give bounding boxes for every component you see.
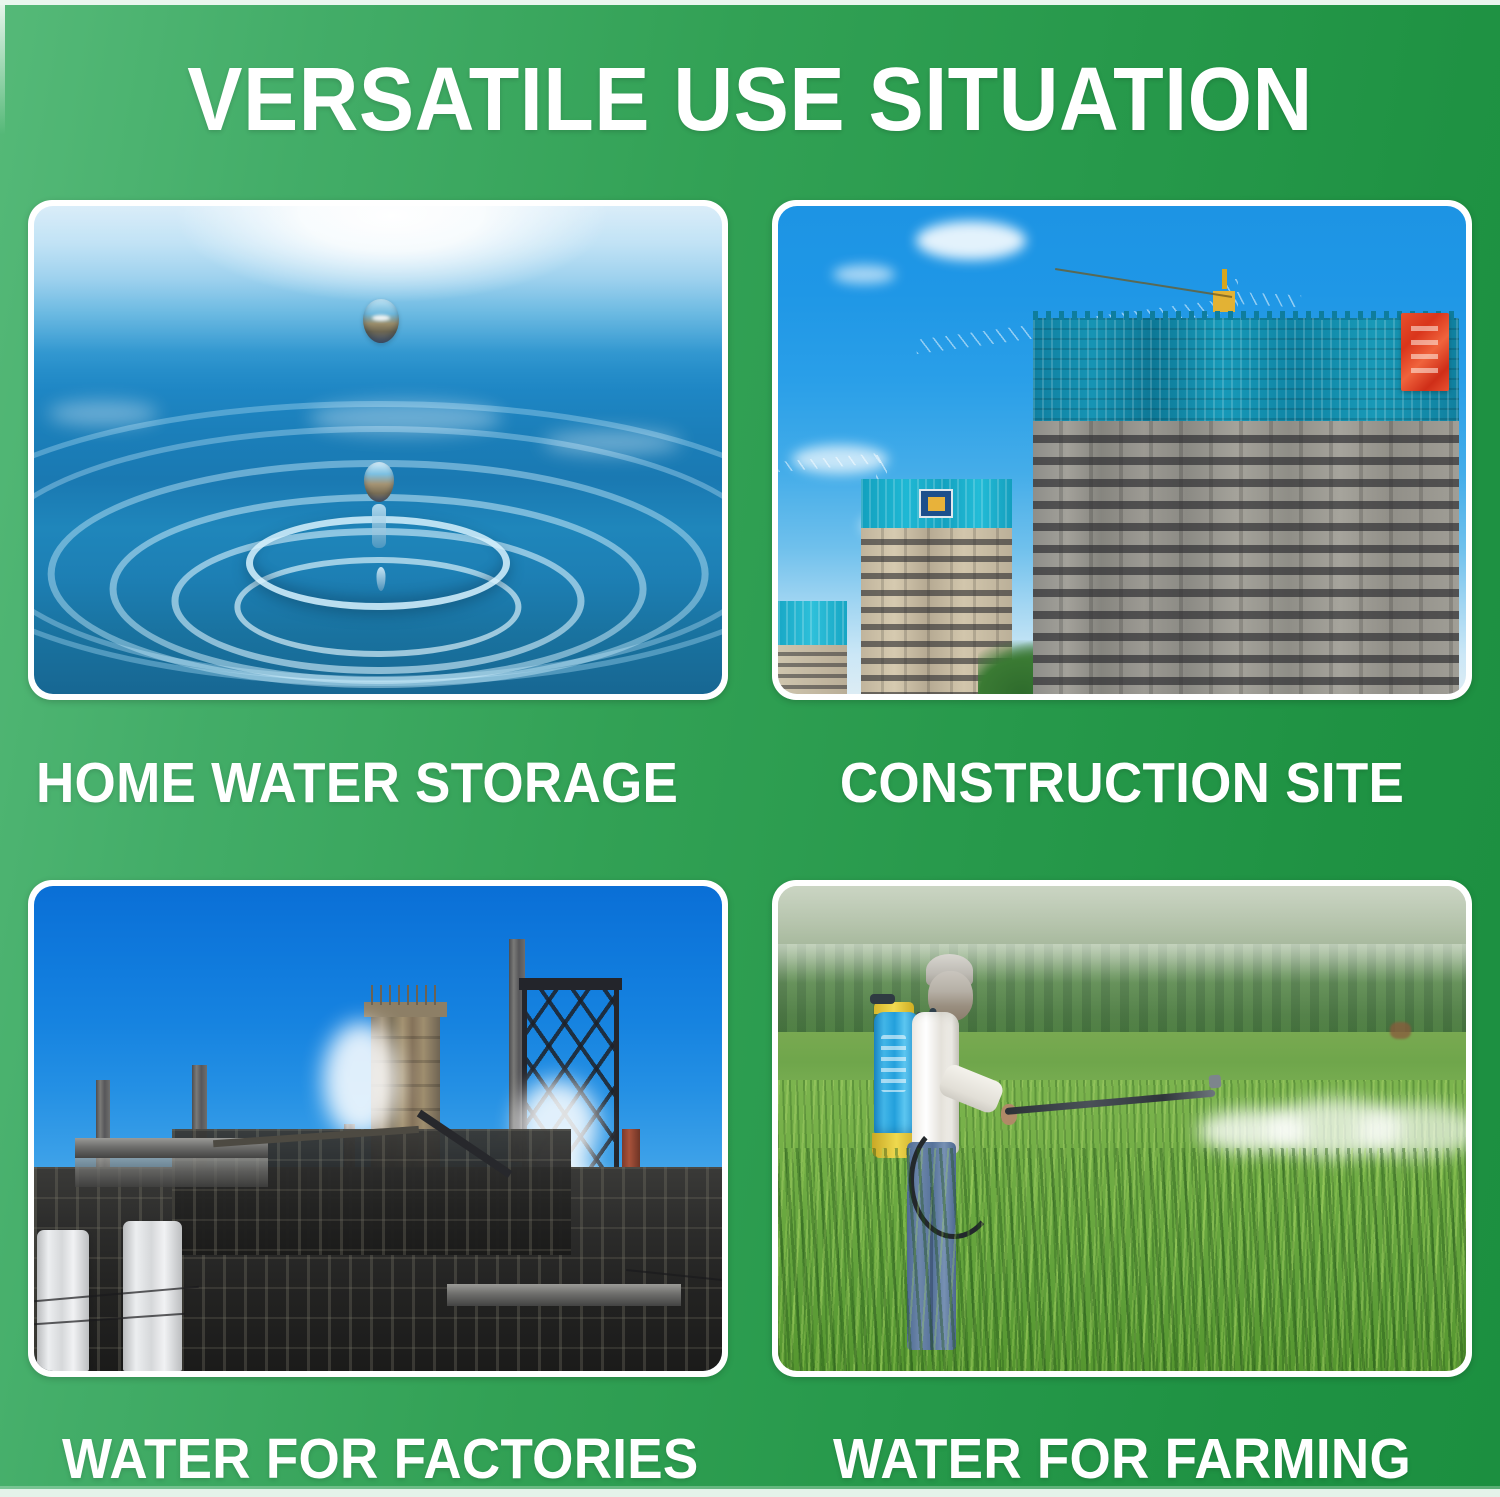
deck-railing [75,1158,268,1187]
far-building-left [778,645,847,694]
cloud-top [916,221,1026,260]
safety-netting-far-left [778,601,847,645]
water-sheen-right [543,430,681,454]
crane-apex-main [1222,269,1227,289]
spray-nozzle [1208,1074,1221,1087]
photo-inner-factory [34,886,722,1371]
lattice-tower-cap [519,978,622,990]
safety-netting-main-tower [1033,318,1460,420]
photo-inner-construction [778,206,1466,694]
water-column [372,504,386,548]
page-title: VERSATILE USE SITUATION [60,52,1440,148]
cloud-left [833,265,895,285]
caption-water-for-factories: WATER FOR FACTORIES [62,1428,699,1490]
versatile-use-situation-poster: VERSATILE USE SITUATION HOME WATER STORA… [0,0,1500,1497]
main-highrise-under-construction [1033,421,1460,694]
poster-top-edge [0,0,1500,5]
foreground-grass-blades [778,1148,1466,1371]
storage-tank-right [123,1221,181,1371]
photo-home-water-storage [28,200,728,700]
far-building-window-grid [778,645,847,694]
distant-figure [1390,1022,1411,1039]
distillation-column-antennae [371,985,440,1004]
poster-left-edge [0,0,5,1497]
sprayer-pump-handle [870,994,896,1004]
photo-water-for-factories [28,880,728,1377]
water-horizon-haze [34,206,722,372]
caption-water-for-farming: WATER FOR FARMING [797,1428,1448,1490]
main-highrise-windows [1033,421,1460,694]
construction-signboard [919,489,953,518]
caption-home-water-storage: HOME WATER STORAGE [36,752,678,814]
poster-bottom-edge [0,1489,1500,1497]
red-construction-banner [1401,313,1449,391]
lower-deck-platform [447,1284,681,1306]
photo-construction-site [772,200,1472,700]
photo-inner-farming [778,886,1466,1371]
photo-water-for-farming [772,880,1472,1377]
water-sheen-left [48,401,158,425]
photo-inner-water [34,206,722,694]
caption-construction-site: CONSTRUCTION SITE [797,752,1448,814]
steam-plume-column [323,1022,399,1138]
